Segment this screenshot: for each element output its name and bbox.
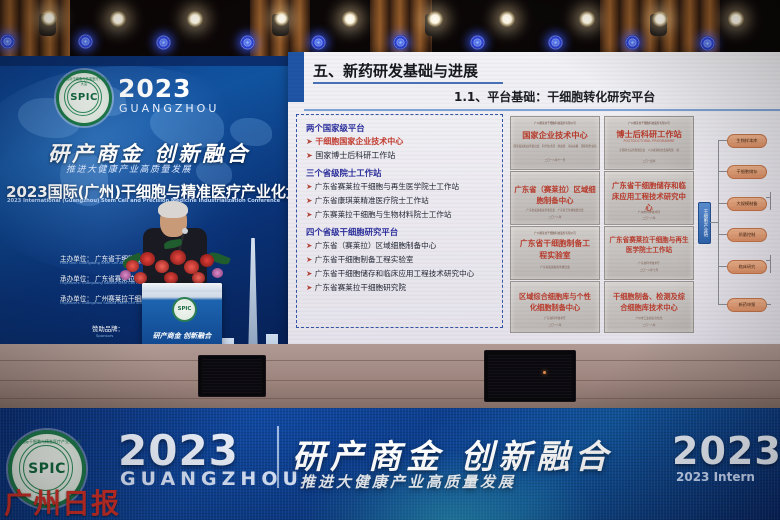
- front-logo-arc-text: 广州国际干细胞与精准医疗产业化大会: [12, 439, 82, 445]
- microphone-head: [182, 228, 188, 234]
- canton-tower-icon: [242, 238, 264, 356]
- podium-spic-logo: SPIC: [172, 297, 197, 322]
- stage-spotlight: [579, 11, 595, 27]
- front-banner-year-left: 2023: [118, 430, 239, 472]
- banner-city: GUANGZHOU: [119, 102, 219, 115]
- stage-spotlight: [342, 11, 358, 27]
- speaker-hair: [158, 201, 188, 218]
- banner-calligraphy-sub: 推进大健康产业高质量发展: [66, 162, 192, 175]
- stage-floor: [0, 344, 780, 414]
- stage-spotlight: [728, 11, 744, 27]
- ceiling-light-rig: [0, 0, 780, 58]
- spic-logo-arc-text: 广州国际干细胞与精准医疗产业化大会: [59, 76, 109, 86]
- stage-spotlight: [274, 11, 289, 26]
- podium-calligraphy: 研产商金 创新融合: [142, 331, 222, 341]
- stage-spotlight: [652, 11, 668, 27]
- banner-year: 2023: [118, 76, 192, 101]
- front-banner-city: GUANGZHOU: [120, 468, 303, 490]
- spic-logo-text: SPIC: [59, 92, 109, 103]
- stage-spotlight: [187, 11, 203, 27]
- front-logo-text: SPIC: [12, 461, 82, 477]
- spic-logo: 广州国际干细胞与精准医疗产业化大会 SPIC: [56, 70, 112, 126]
- banner-sponsor-label: 赞助品牌：: [92, 324, 124, 333]
- guangzhou-daily-watermark: 广州日报: [4, 482, 120, 520]
- stage-spotlight: [41, 10, 57, 26]
- front-banner-year-right: 2023: [672, 432, 780, 470]
- front-banner-divider: [277, 426, 279, 488]
- banner-sponsor-en: Sponsors: [96, 333, 113, 338]
- front-banner-en-right: 2023 Intern: [676, 470, 755, 484]
- front-banner-calligraphy-sub: 推进大健康产业高质量发展: [300, 471, 516, 492]
- stage-monitor-speaker-left: [198, 355, 266, 397]
- monitor-power-led: [543, 371, 546, 374]
- front-stage-banner: 广州国际干细胞与精准医疗产业化大会 SPIC 2023 GUANGZHOU 研产…: [0, 408, 780, 520]
- podium-logo-text: SPIC: [174, 306, 195, 312]
- screen-scanlines: [288, 52, 780, 344]
- presentation-screen: 五、新药研发基础与进展 1.1、平台基础：干细胞转化研究平台 两个国家级平台 ➤…: [288, 52, 780, 344]
- stage-spotlight: [427, 11, 443, 27]
- stage-monitor-speaker-right: [484, 350, 576, 402]
- banner-title-en: 2023 International (Guangzhou) Stem Cell…: [7, 198, 280, 204]
- stage-spotlight: [110, 11, 126, 27]
- stage-spotlight: [499, 11, 515, 27]
- conference-stage-photo: 广州国际干细胞与精准医疗产业化大会 SPIC 2023 GUANGZHOU 研产…: [0, 0, 780, 520]
